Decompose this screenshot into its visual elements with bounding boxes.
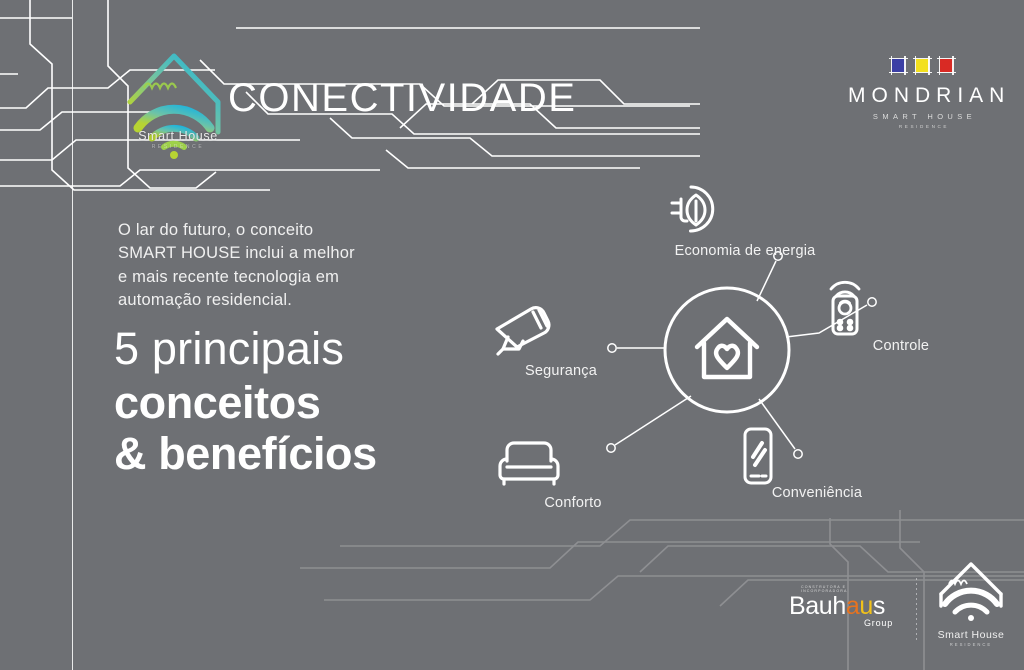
footer-divider xyxy=(916,578,917,642)
bauhaus-logo: CONSTRUTORA E INCORPORADORA Bauhaus Grou… xyxy=(789,585,893,628)
smart-house-footer-caption: Smart House RESIDENCE xyxy=(925,629,1017,647)
mondrian-wordmark: MONDRIAN xyxy=(842,84,1002,108)
bauhaus-letter-u2: u xyxy=(859,592,873,620)
diagram-node-conforto[interactable]: Conforto xyxy=(493,435,653,511)
house-heart-icon xyxy=(697,319,757,377)
paragraph-line-3: e mais recente tecnologia em xyxy=(118,266,423,289)
energy-leaf-plug-icon xyxy=(665,183,825,239)
wifi-arc-mid-footer xyxy=(955,605,987,612)
diagram-node-seguranca-label: Segurança xyxy=(481,363,641,379)
mondrian-sub2: RESIDENCE xyxy=(842,124,1002,129)
diagram-node-energia-label: Economia de energia xyxy=(665,243,825,259)
bauhaus-letter-u1: u xyxy=(819,592,833,620)
bauhaus-letter-a2: a xyxy=(846,592,860,620)
blue-square-icon xyxy=(889,56,908,75)
mondrian-logo: MONDRIAN SMART HOUSE RESIDENCE xyxy=(842,56,1002,129)
armchair-icon xyxy=(493,435,653,491)
diagram-node-energia[interactable]: Economia de energia xyxy=(665,183,825,259)
page-title: CONECTIVIDADE xyxy=(228,78,576,118)
intro-paragraph: O lar do futuro, o conceito SMART HOUSE … xyxy=(118,219,423,313)
yellow-square-icon xyxy=(913,56,932,75)
concepts-diagram: Economia de energia Controle xyxy=(495,165,1015,540)
headline-line-3: & benefícios xyxy=(114,429,474,479)
mondrian-color-marks xyxy=(842,56,1002,75)
smart-house-footer-name: Smart House xyxy=(938,629,1005,641)
smart-house-logo-top-name: Smart House xyxy=(138,129,218,143)
bauhaus-wordmark: Bauhaus xyxy=(789,594,893,619)
smart-house-logo-top-sub: RESIDENCE xyxy=(120,144,236,150)
diagram-node-controle[interactable]: Controle xyxy=(821,278,981,354)
bauhaus-letter-s: s xyxy=(873,592,885,620)
left-vertical-rule xyxy=(72,0,73,670)
mondrian-sub: SMART HOUSE xyxy=(842,112,1002,121)
bauhaus-letter-h: h xyxy=(832,592,846,620)
smart-house-logo-top: Smart House RESIDENCE xyxy=(112,40,244,162)
smart-house-footer-sub: RESIDENCE xyxy=(925,642,1017,647)
headline-line-2: conceitos xyxy=(114,378,474,428)
wifi-arc-outer-footer xyxy=(945,591,997,604)
diagram-node-conveniencia[interactable]: Conveniência xyxy=(737,425,897,501)
remote-control-icon xyxy=(821,278,981,334)
paragraph-line-2: SMART HOUSE inclui a melhor xyxy=(118,242,423,265)
diagram-node-conveniencia-label: Conveniência xyxy=(737,485,897,501)
security-camera-icon xyxy=(481,303,641,359)
diagram-node-seguranca[interactable]: Segurança xyxy=(481,303,641,379)
paragraph-line-4: automação residencial. xyxy=(118,289,423,312)
bauhaus-letter-a: a xyxy=(805,592,819,620)
smartphone-icon xyxy=(737,425,897,481)
slide-canvas: Smart House RESIDENCE CONECTIVIDADE O la… xyxy=(0,0,1024,670)
headline-line-1: 5 principais xyxy=(114,325,474,374)
diagram-node-conforto-label: Conforto xyxy=(493,495,653,511)
wifi-dot-footer xyxy=(968,615,974,621)
bauhaus-letter-b: B xyxy=(789,592,805,620)
paragraph-line-1: O lar do futuro, o conceito xyxy=(118,219,423,242)
smart-house-logo-top-caption: Smart House RESIDENCE xyxy=(120,129,236,150)
red-square-icon xyxy=(937,56,956,75)
smart-house-logo-footer: Smart House RESIDENCE xyxy=(925,552,1017,647)
headline-statement: 5 principais conceitos & benefícios xyxy=(114,325,474,479)
diagram-node-controle-label: Controle xyxy=(821,338,981,354)
wifi-dot xyxy=(170,151,178,159)
